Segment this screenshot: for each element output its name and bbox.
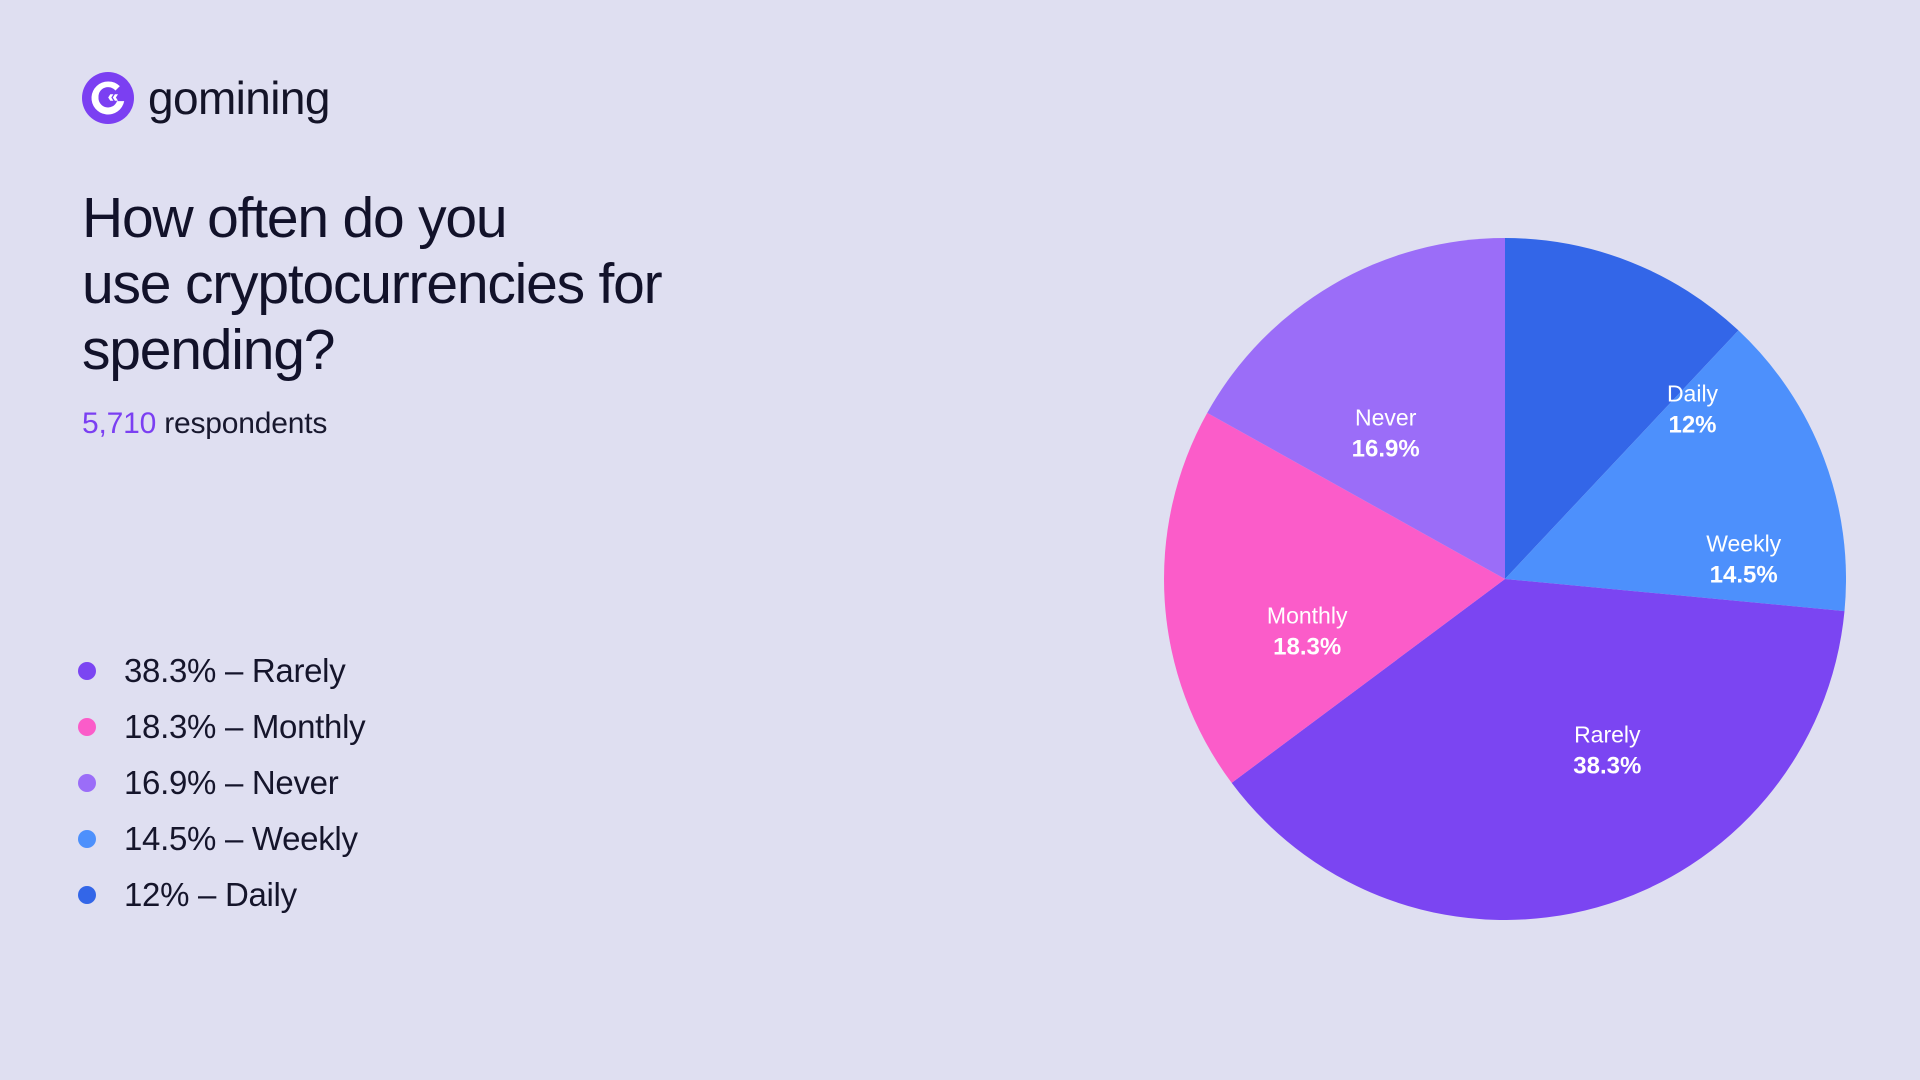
legend-item: 18.3% – Monthly [78, 699, 365, 755]
legend-bullet-icon [78, 774, 96, 792]
legend-bullet-icon [78, 718, 96, 736]
brand-name: gomining [148, 75, 330, 121]
gomining-logo-icon [82, 72, 134, 124]
legend-item-label: 12% – Daily [124, 876, 297, 914]
page-title: How often do you use cryptocurrencies fo… [82, 185, 902, 383]
legend-item-label: 16.9% – Never [124, 764, 338, 802]
legend-list: 38.3% – Rarely18.3% – Monthly16.9% – Nev… [78, 643, 365, 923]
legend-bullet-icon [78, 830, 96, 848]
headline-line-2: use cryptocurrencies for [82, 251, 902, 317]
legend-item: 12% – Daily [78, 867, 365, 923]
legend-item: 14.5% – Weekly [78, 811, 365, 867]
headline-line-3: spending? [82, 317, 902, 383]
brand-logo: gomining [82, 72, 330, 124]
legend-item-label: 18.3% – Monthly [124, 708, 365, 746]
pie-slices [1164, 238, 1846, 920]
legend-item-label: 38.3% – Rarely [124, 652, 345, 690]
legend-item: 38.3% – Rarely [78, 643, 365, 699]
legend-item-label: 14.5% – Weekly [124, 820, 358, 858]
pie-chart-svg: Daily12%Weekly14.5%Rarely38.3%Monthly18.… [1164, 238, 1846, 920]
legend-bullet-icon [78, 662, 96, 680]
pie-chart: Daily12%Weekly14.5%Rarely38.3%Monthly18.… [1164, 238, 1846, 920]
respondents-label: respondents [164, 407, 327, 440]
legend-item: 16.9% – Never [78, 755, 365, 811]
headline-line-1: How often do you [82, 185, 902, 251]
respondents-count: 5,710 respondents [82, 407, 327, 441]
legend-bullet-icon [78, 886, 96, 904]
respondents-number: 5,710 [82, 407, 156, 440]
